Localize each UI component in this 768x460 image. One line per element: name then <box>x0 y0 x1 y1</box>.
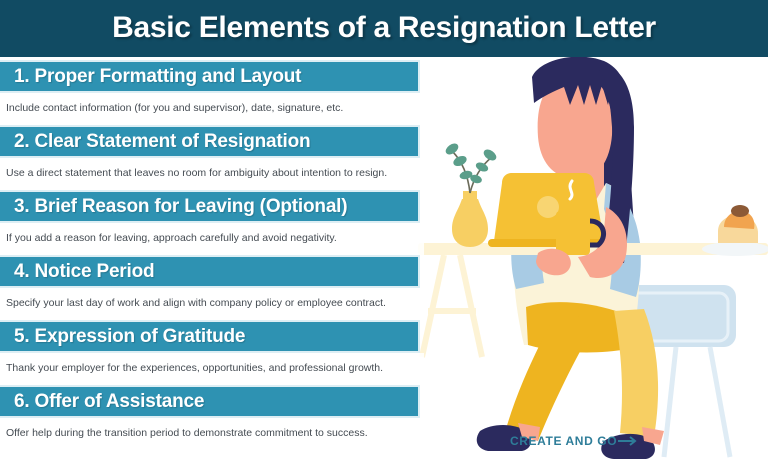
list-item-bar: 2. Clear Statement of Resignation <box>0 125 420 158</box>
brand-logo-text: CREATE AND GO <box>510 434 617 448</box>
list-item-description: If you add a reason for leaving, approac… <box>0 223 424 255</box>
list-item-title: 2. Clear Statement of Resignation <box>14 131 310 153</box>
list-item-description: Specify your last day of work and align … <box>0 288 424 320</box>
arrow-icon <box>618 434 638 448</box>
list-item: 6. Offer of Assistance Offer help during… <box>0 385 424 450</box>
list-item-bar: 6. Offer of Assistance <box>0 385 420 418</box>
page-title: Basic Elements of a Resignation Letter <box>0 7 768 49</box>
illustration-woman-at-desk <box>418 57 768 460</box>
list-item-description: Offer help during the transition period … <box>0 418 424 450</box>
list-item-description: Use a direct statement that leaves no ro… <box>0 158 424 190</box>
list-item-bar: 3. Brief Reason for Leaving (Optional) <box>0 190 420 223</box>
list-item: 5. Expression of Gratitude Thank your em… <box>0 320 424 385</box>
list-item-title: 5. Expression of Gratitude <box>14 326 245 348</box>
list-item: 1. Proper Formatting and Layout Include … <box>0 60 424 125</box>
list-item: 2. Clear Statement of Resignation Use a … <box>0 125 424 190</box>
brand-logo: CREATE AND GO <box>510 434 638 448</box>
list-item-description: Thank your employer for the experiences,… <box>0 353 424 385</box>
list-item-title: 1. Proper Formatting and Layout <box>14 66 301 88</box>
elements-list: 1. Proper Formatting and Layout Include … <box>0 60 424 450</box>
list-item-title: 3. Brief Reason for Leaving (Optional) <box>14 196 347 218</box>
list-item-title: 4. Notice Period <box>14 261 154 283</box>
list-item-description: Include contact information (for you and… <box>0 93 424 125</box>
infographic-canvas: Basic Elements of a Resignation Letter 1… <box>0 0 768 460</box>
list-item: 4. Notice Period Specify your last day o… <box>0 255 424 320</box>
list-item-bar: 4. Notice Period <box>0 255 420 288</box>
list-item-bar: 1. Proper Formatting and Layout <box>0 60 420 93</box>
list-item-title: 6. Offer of Assistance <box>14 391 204 413</box>
list-item: 3. Brief Reason for Leaving (Optional) I… <box>0 190 424 255</box>
list-item-bar: 5. Expression of Gratitude <box>0 320 420 353</box>
